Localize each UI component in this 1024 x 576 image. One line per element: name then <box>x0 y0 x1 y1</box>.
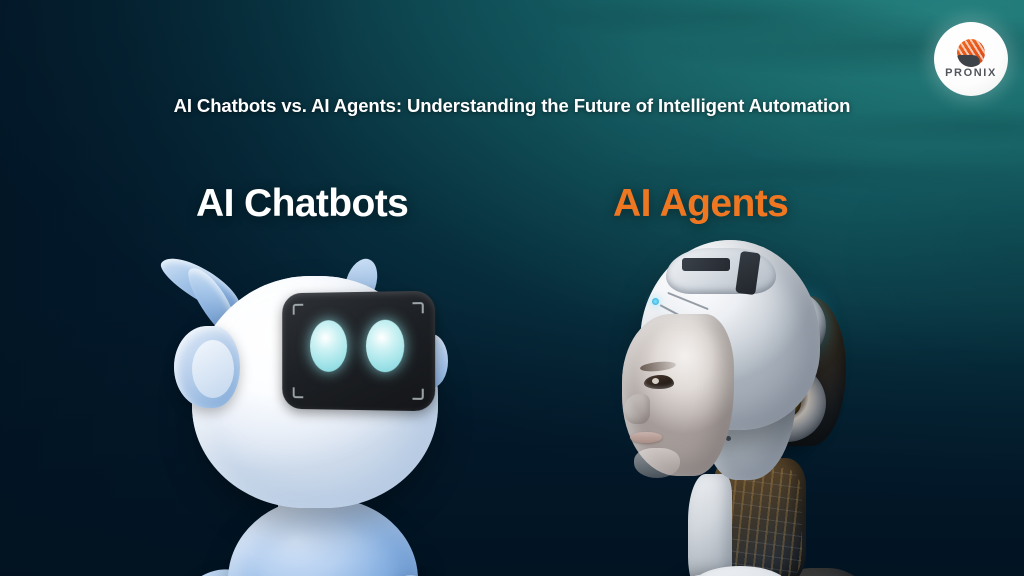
pronix-wordmark: PRONIX <box>945 68 997 79</box>
android-eye <box>644 375 674 389</box>
screen-corner-bracket-top-left <box>293 304 304 315</box>
screen-corner-bracket-bottom-left <box>293 387 304 398</box>
android-temple-led-icon <box>652 298 659 305</box>
screen-corner-bracket-bottom-right <box>412 389 423 400</box>
android-eye-highlight <box>652 378 659 384</box>
screen-corner-bracket-top-right <box>412 302 423 313</box>
android-lips <box>630 432 662 443</box>
section-title-chatbots: AI Chatbots <box>196 182 408 226</box>
pronix-logo-badge[interactable]: PRONIX <box>934 22 1008 96</box>
android-nose <box>624 394 650 424</box>
page-title: AI Chatbots vs. AI Agents: Understanding… <box>0 95 1024 117</box>
chatbot-headphone-inner <box>192 340 234 398</box>
android-crown-slot <box>682 258 730 271</box>
android-chin <box>634 448 680 478</box>
chatbot-body <box>228 498 418 576</box>
slide-canvas: PRONIX AI Chatbots vs. AI Agents: Unders… <box>0 0 1024 576</box>
humanoid-android-illustration <box>596 236 876 576</box>
chatbot-eye-left-icon <box>310 320 347 372</box>
pronix-sphere-icon <box>957 39 985 67</box>
chatbot-robot-illustration <box>150 248 520 576</box>
chatbot-eye-right-icon <box>366 320 404 373</box>
section-title-agents: AI Agents <box>613 182 788 226</box>
chatbot-face-screen <box>282 291 435 412</box>
android-neck-front-plate <box>688 474 732 576</box>
